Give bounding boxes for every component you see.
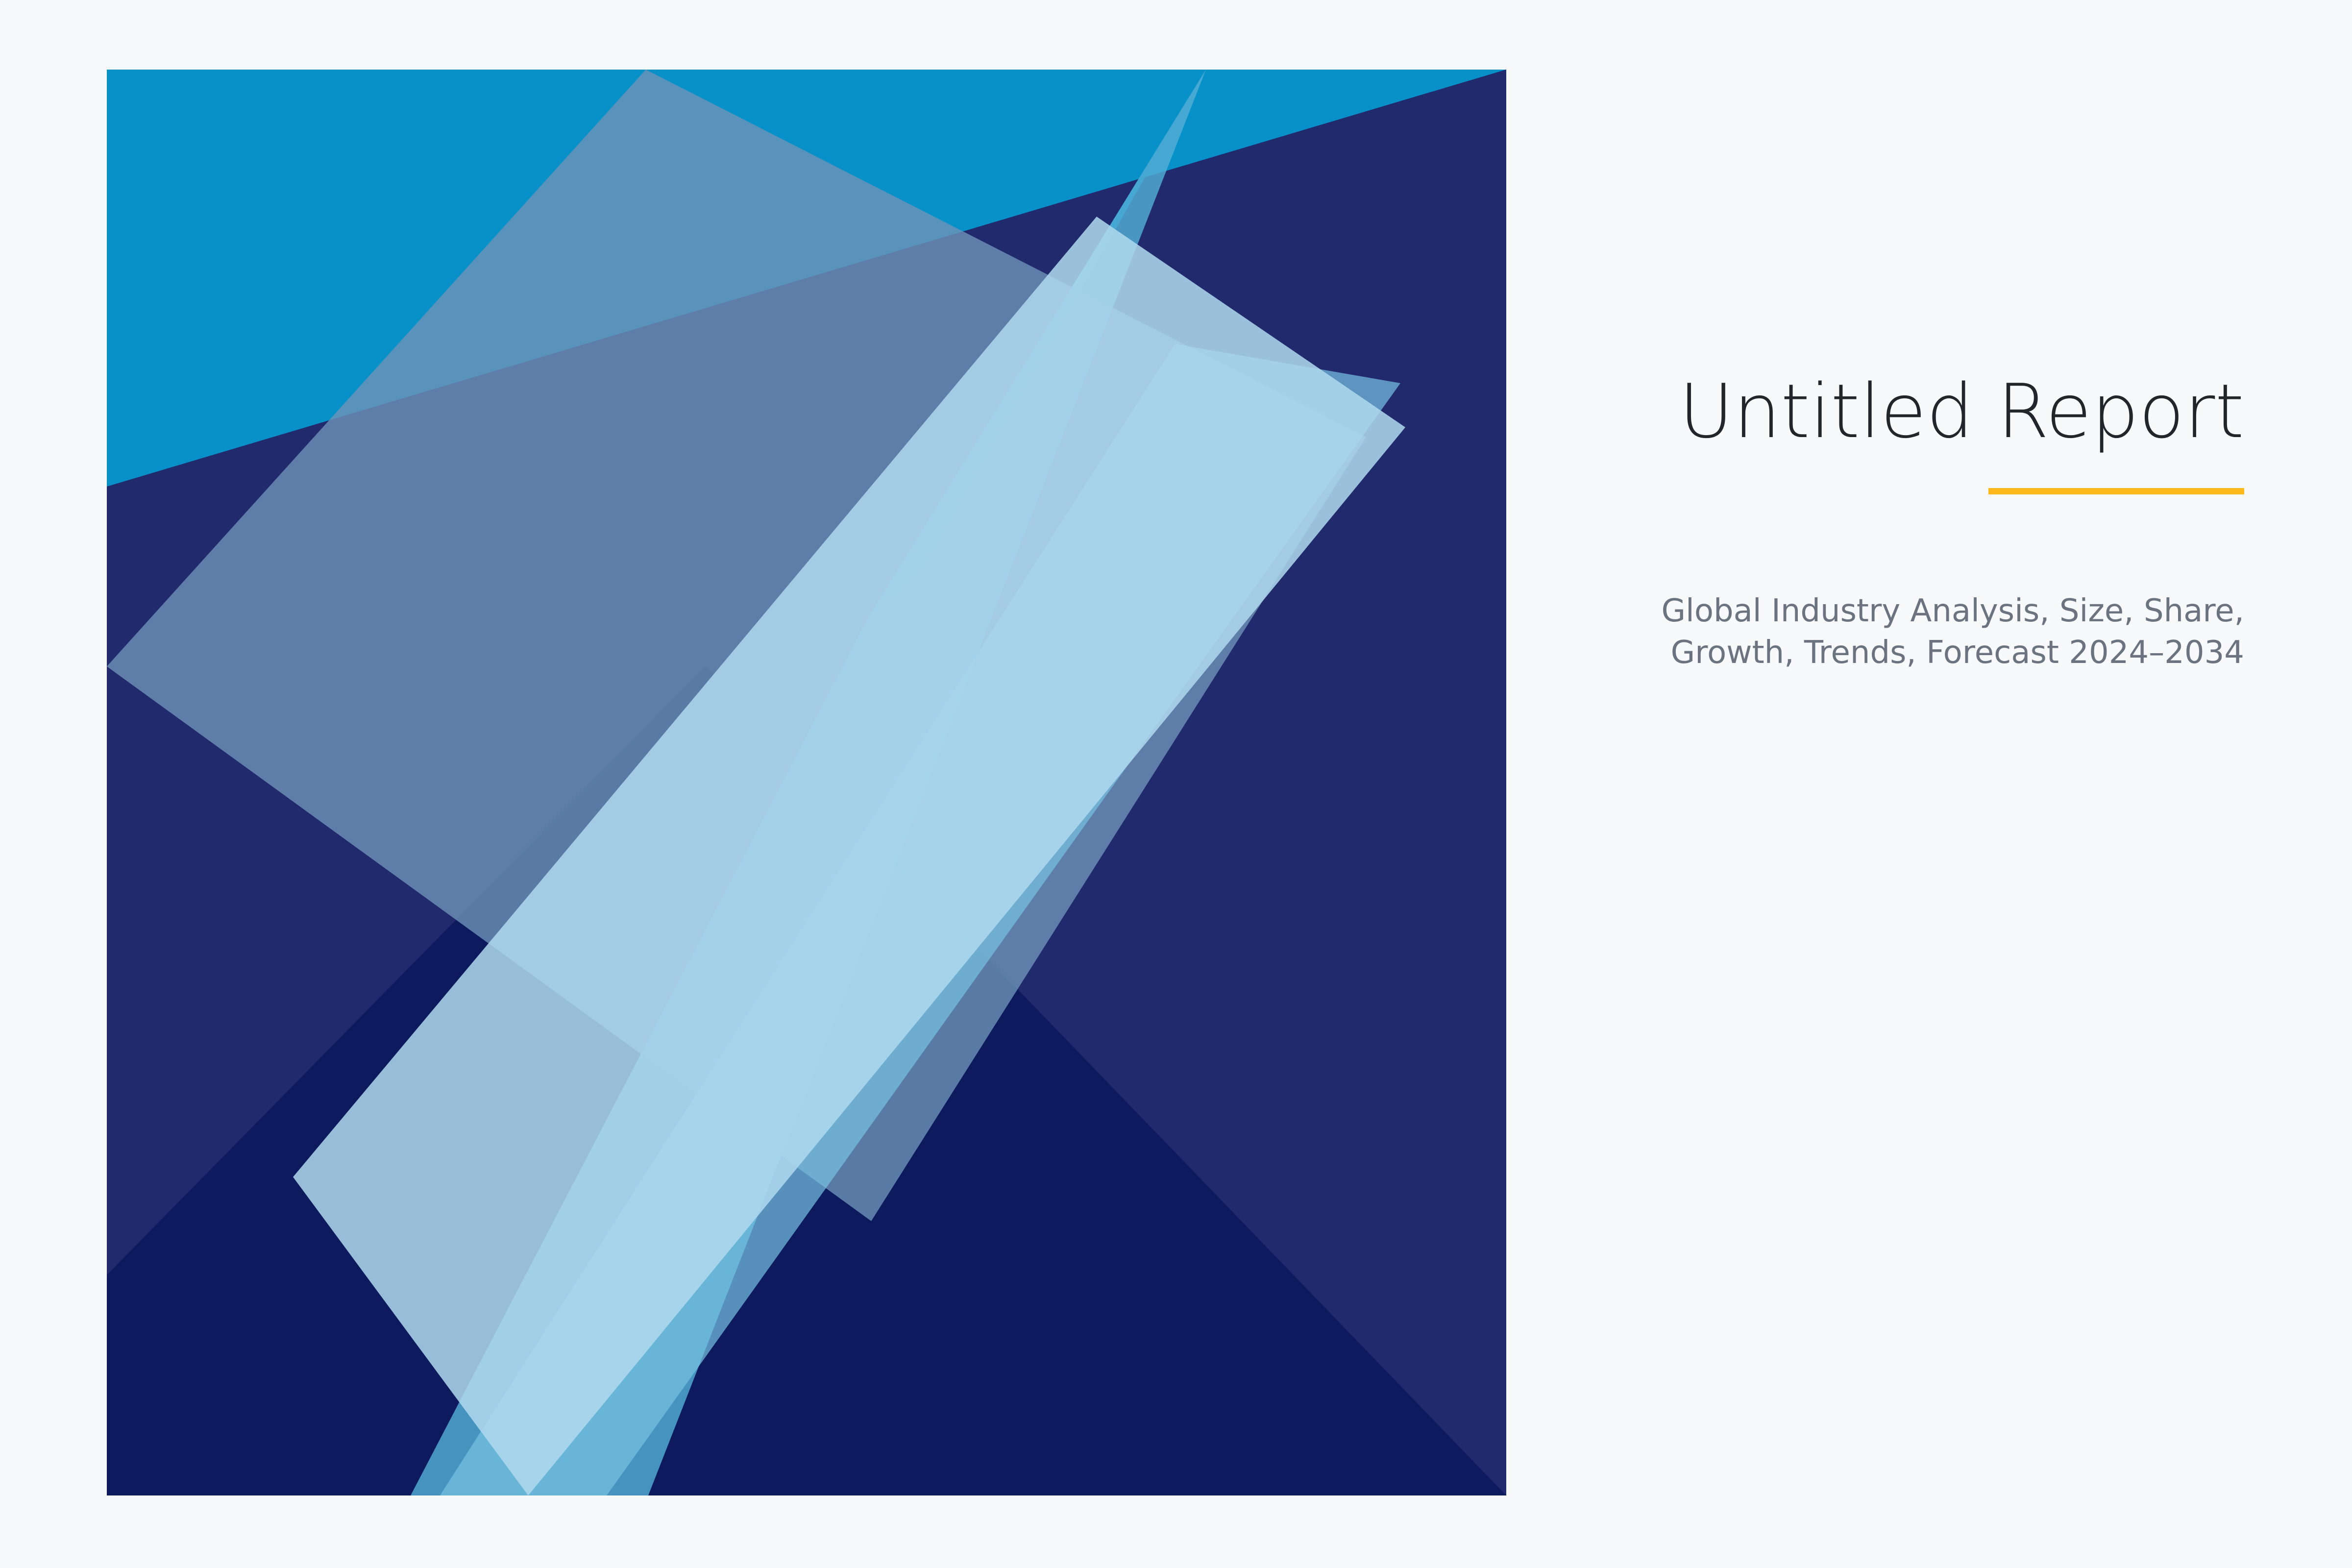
cover-text-block: Untitled Report Global Industry Analysis… — [1568, 372, 2244, 674]
cover-artwork-svg — [107, 70, 1506, 1495]
report-title: Untitled Report — [1568, 372, 2244, 451]
accent-rule-divider — [1988, 488, 2244, 494]
report-cover-page: Untitled Report Global Industry Analysis… — [0, 0, 2352, 1568]
report-subtitle: Global Industry Analysis, Size, Share, G… — [1568, 590, 2244, 675]
cover-artwork — [107, 70, 1506, 1495]
